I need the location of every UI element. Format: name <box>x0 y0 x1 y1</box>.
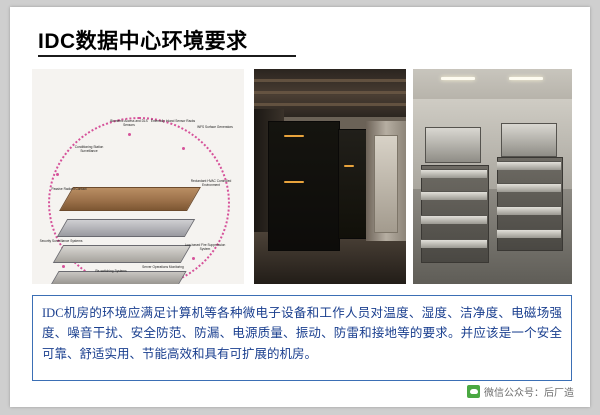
diagram-label-biometric-access: Biometric Access and DLS Sensors <box>106 119 152 127</box>
rack-shelf <box>497 206 561 215</box>
rack-shelf <box>497 161 561 170</box>
rack-shelf <box>421 169 487 178</box>
dark-server-corridor-photo <box>254 69 406 284</box>
diagram-label-re-switching: Re-switching Systems <box>88 269 134 273</box>
indicator-light <box>284 135 304 137</box>
ceiling-light <box>509 77 543 80</box>
indicator-light <box>344 165 354 167</box>
diagram-callout-dot <box>56 173 59 176</box>
ceiling-beam <box>254 79 406 82</box>
diagram-label-conditioning-station: Conditioning Station Surveillance <box>66 145 112 153</box>
rack-shelf <box>421 215 487 224</box>
battery-rack-room-photo <box>413 69 572 284</box>
corridor-door <box>374 135 398 233</box>
ceiling-beam <box>254 103 406 106</box>
title-divider <box>38 55 296 57</box>
rack-shelf <box>497 183 561 192</box>
diagram-callout-dot <box>182 147 185 150</box>
rack-shelf <box>421 239 487 248</box>
equipment-cabinet <box>425 127 481 163</box>
exploded-datacenter-diagram: Biometric Access and DLS Sensors Externa… <box>32 69 244 284</box>
diagram-label-security-surveillance: Security Surveillance Systems <box>38 239 84 243</box>
ceiling-light <box>441 77 475 80</box>
diagram-label-hvac: Redundant HVAC Controlled Environment <box>188 179 234 187</box>
rack-shelf <box>421 191 487 200</box>
ceiling-beam <box>254 91 406 94</box>
diagram-callout-dot <box>128 133 131 136</box>
diagram-callout-dot <box>192 257 195 260</box>
indicator-light <box>284 181 304 183</box>
slide-canvas: IDC数据中心环境要求 <box>10 7 590 407</box>
server-cabinet <box>268 121 340 251</box>
diagram-label-server-monitoring: Server Operations Monitoring <box>140 265 186 269</box>
description-textbox: IDC机房的环境应满足计算机等各种微电子设备和工作人员对温度、湿度、洁净度、电磁… <box>32 295 572 381</box>
watermark-text: 微信公众号：后厂造 <box>484 384 574 399</box>
equipment-cabinet <box>501 123 557 157</box>
image-row: Biometric Access and DLS Sensors Externa… <box>32 69 572 284</box>
description-paragraph: IDC机房的环境应满足计算机等各种微电子设备和工作人员对温度、湿度、洁净度、电磁… <box>42 303 562 364</box>
diagram-label-wfs-generators: WFS Surface Generators <box>192 125 238 129</box>
wechat-icon <box>467 385 480 398</box>
diagram-layer-servers <box>57 219 195 237</box>
diagram-label-fire-suppression: Low-based Fire Suppression System <box>182 243 228 251</box>
watermark: 微信公众号：后厂造 <box>467 384 574 399</box>
diagram-label-radiant-contact: Passive Radiant Contact <box>46 187 92 191</box>
battery-rack <box>421 165 489 263</box>
diagram-label-sensor-racks: Externally Inland Sensor Racks <box>150 119 196 123</box>
rack-shelf <box>497 229 561 238</box>
diagram-layer-power <box>53 245 191 263</box>
diagram-callout-dot <box>62 265 65 268</box>
page-title: IDC数据中心环境要求 <box>38 25 248 55</box>
